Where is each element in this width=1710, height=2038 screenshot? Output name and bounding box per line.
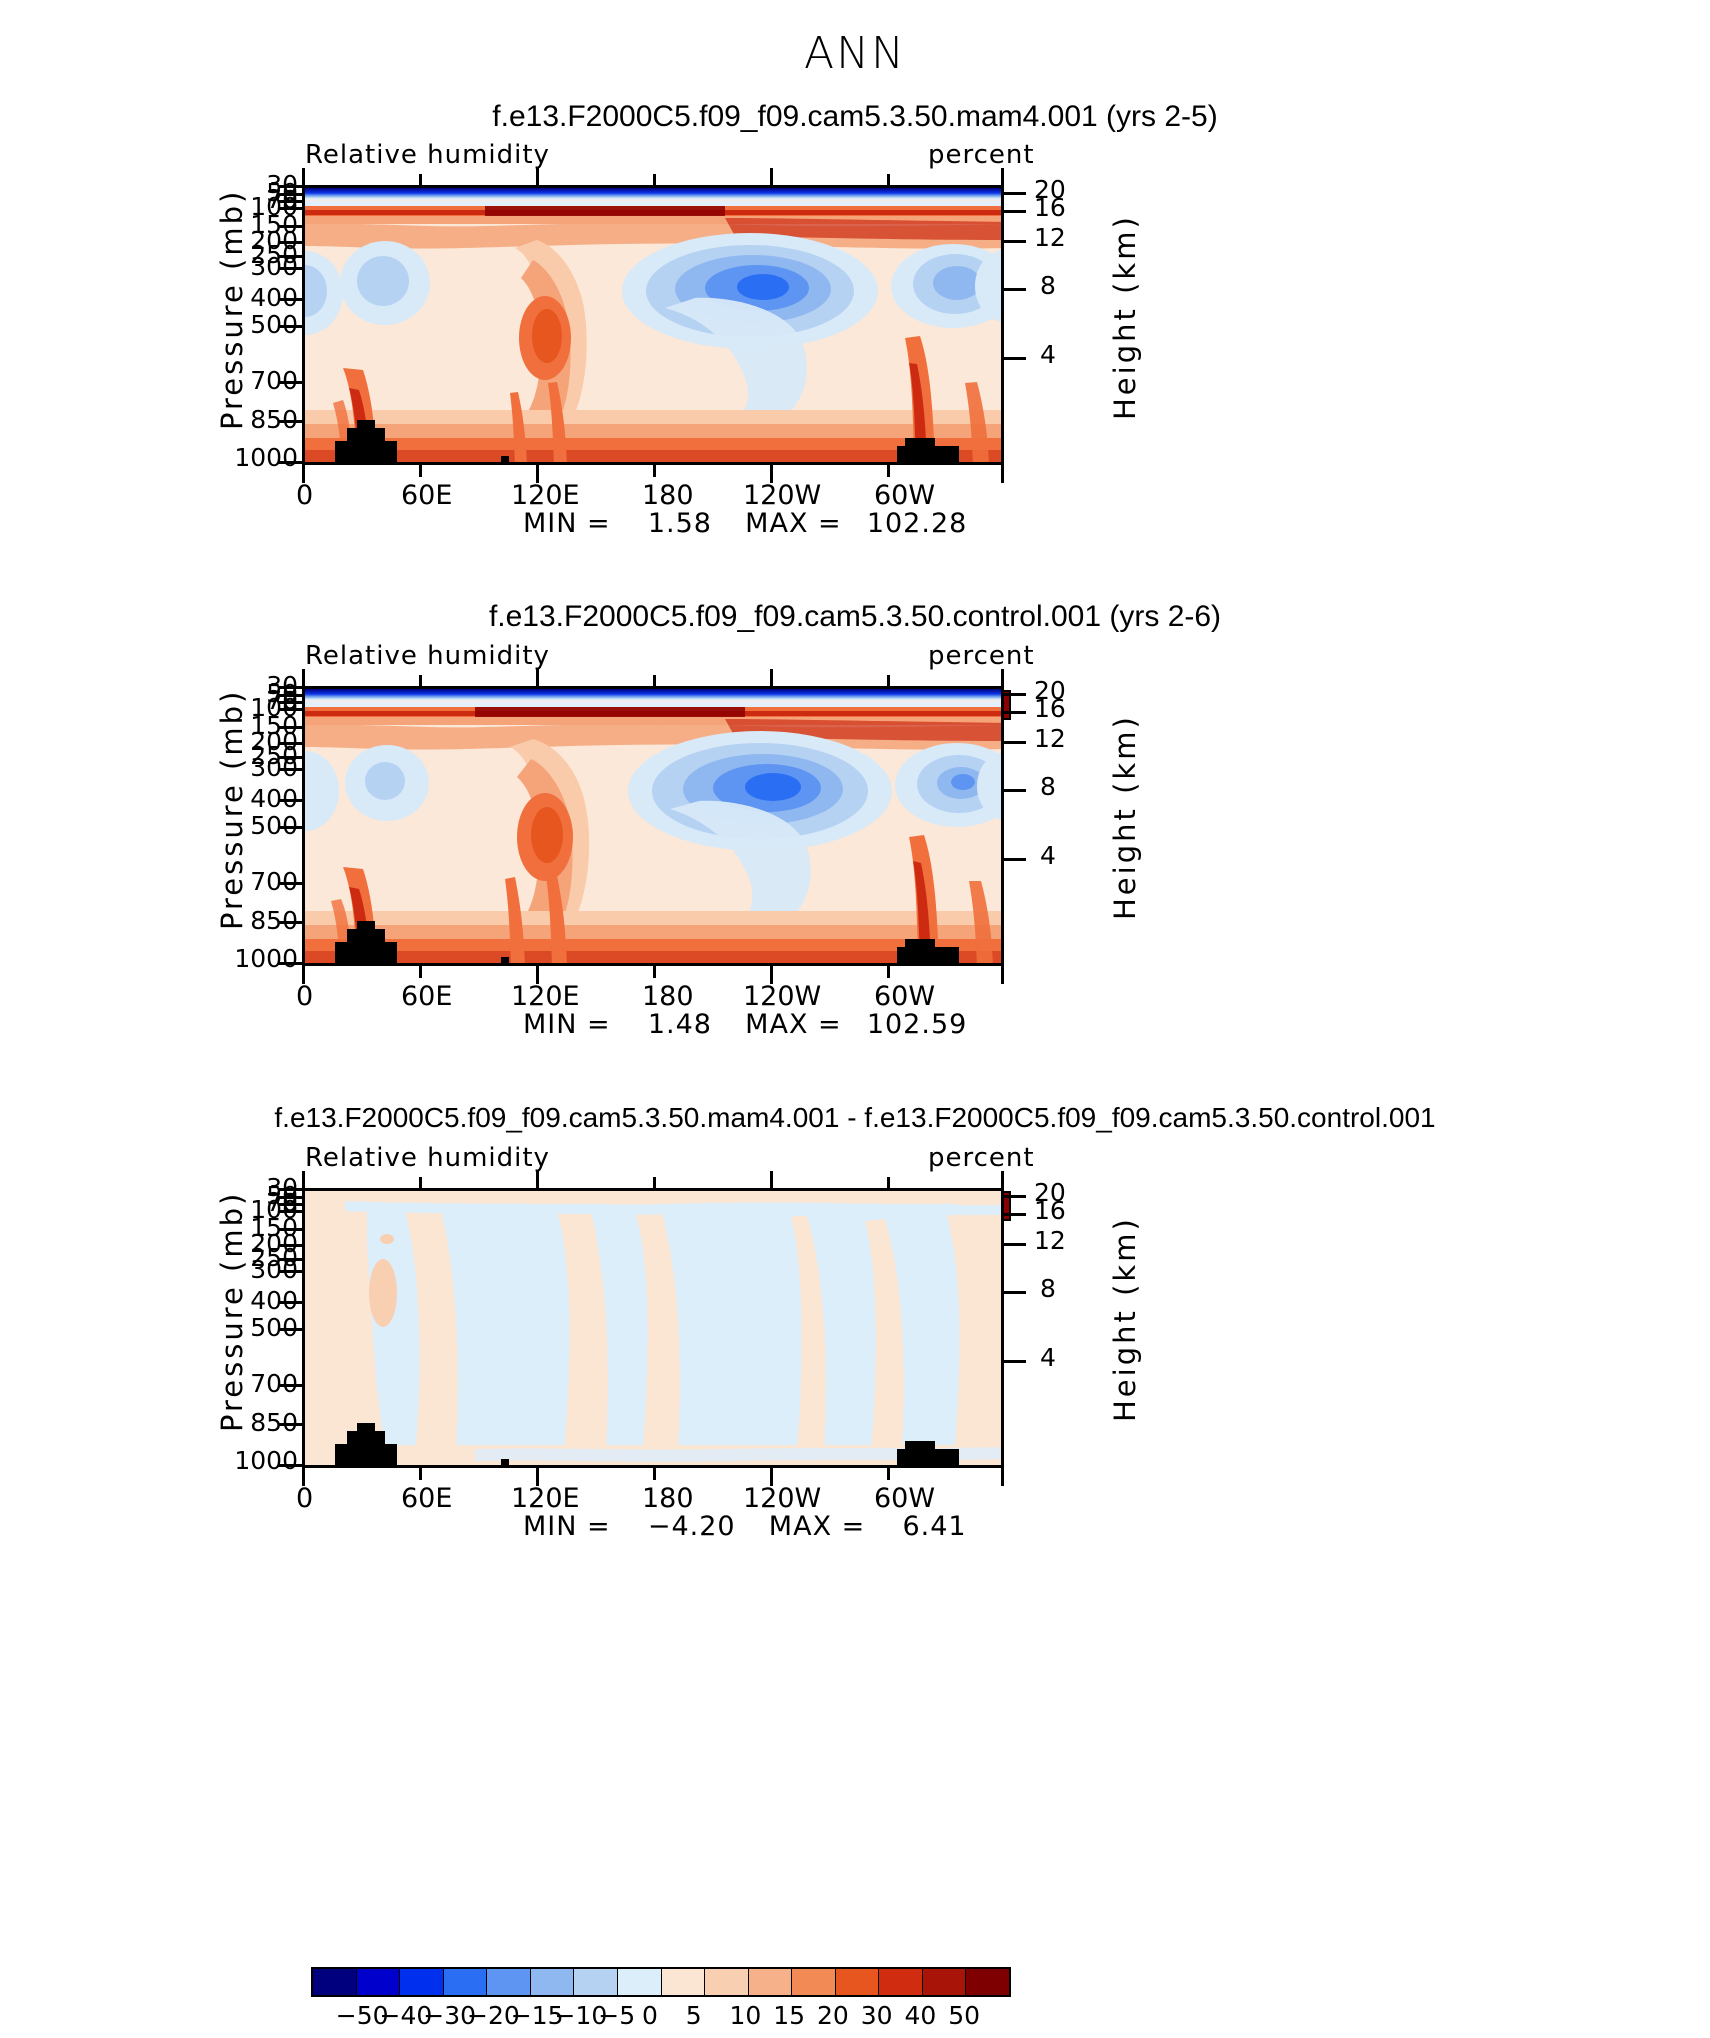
colorbar-swatch-12 [836,1969,880,1995]
panel-control-minmax: MIN = 1.48 MAX = 102.59 [523,1009,967,1040]
colorbar-label-12: 30 [861,2001,893,2030]
htick-16: 16 [1034,694,1066,723]
xtick-60W: 60W [874,480,935,511]
max-value: 102.28 [867,508,967,539]
htick-4: 4 [1040,841,1056,870]
max-prefix: MAX = [745,1009,841,1040]
panel-control-variable-label: Relative humidity [305,641,550,671]
panel-difference-units-label: percent [928,1143,1035,1173]
max-prefix: MAX = [745,508,841,539]
panel-control-plot-area [302,686,1004,966]
max-prefix: MAX = [769,1511,865,1542]
htick-8: 8 [1040,772,1056,801]
max-value: 102.59 [867,1009,967,1040]
min-value: −4.20 [648,1511,736,1542]
colorbar-swatch-15 [966,1969,1009,1995]
panel-difference-plot-area [302,1188,1004,1468]
colorbar-swatch-0 [313,1969,357,1995]
colorbar-swatch-9 [705,1969,749,1995]
colorbar-swatch-3 [444,1969,488,1995]
xtick-120E: 120E [511,480,580,511]
xtick-120W: 120W [743,1483,821,1514]
colorbar-swatch-5 [531,1969,575,1995]
htick-4: 4 [1040,1343,1056,1372]
min-prefix: MIN = [523,508,611,539]
panel-test-contour-field [305,188,1004,465]
panel-control-pressure-axis-title: Pressure (mb) [215,689,249,930]
colorbar-label-8: 5 [686,2001,702,2030]
colorbar-swatch-7 [618,1969,662,1995]
colorbar-label-10: 15 [773,2001,805,2030]
panel-test-title: f.e13.F2000C5.f09_f09.cam5.3.50.mam4.001… [0,100,1710,134]
panel-control-pressure-ticks: 30 50 70 100 150 200 250 300 400 500 700… [248,669,308,969]
htick-8: 8 [1040,271,1056,300]
xtick-60E: 60E [401,1483,452,1514]
panel-difference-title: f.e13.F2000C5.f09_f09.cam5.3.50.mam4.001… [0,1102,1710,1134]
htick-12: 12 [1034,1226,1066,1255]
min-value: 1.48 [648,1009,712,1040]
panel-difference-colorbar-labels: −50−40−30−20−15−10−505101520304050 [311,2001,1011,2035]
panel-difference-height-axis-title: Height (km) [1108,1216,1142,1422]
colorbar-label-14: 50 [948,2001,980,2030]
colorbar-swatch-4 [487,1969,531,1995]
xtick-120W: 120W [743,480,821,511]
panel-test-minmax: MIN = 1.58 MAX = 102.28 [523,508,967,539]
xtick-0: 0 [296,1483,313,1514]
min-prefix: MIN = [523,1511,611,1542]
xtick-60E: 60E [401,480,452,511]
htick-8: 8 [1040,1274,1056,1303]
panel-test-plot-area [302,185,1004,465]
panel-test-pressure-ticks: 30 50 70 100 150 200 250 300 400 500 700… [248,168,308,468]
max-value: 6.41 [902,1511,966,1542]
xtick-0: 0 [296,981,313,1012]
min-prefix: MIN = [523,1009,611,1040]
colorbar-label-6: −5 [598,2001,635,2030]
panel-control-units-label: percent [928,641,1035,671]
xtick-0: 0 [296,480,313,511]
colorbar-label-11: 20 [817,2001,849,2030]
xtick-180: 180 [642,981,694,1012]
panel-difference-pressure-axis-title: Pressure (mb) [215,1191,249,1432]
panel-difference-variable-label: Relative humidity [305,1143,550,1173]
htick-16: 16 [1034,193,1066,222]
ytick-1000: 1000 [234,1446,298,1475]
min-value: 1.58 [648,508,712,539]
ytick-1000: 1000 [234,443,298,472]
htick-16: 16 [1034,1196,1066,1225]
htick-4: 4 [1040,340,1056,369]
colorbar-label-13: 40 [905,2001,937,2030]
panel-difference-contour-field [305,1191,1004,1468]
xtick-120W: 120W [743,981,821,1012]
panel-control-height-axis-title: Height (km) [1108,714,1142,920]
colorbar-swatch-11 [792,1969,836,1995]
htick-12: 12 [1034,724,1066,753]
xtick-60W: 60W [874,981,935,1012]
panel-control-contour-field [305,689,1004,966]
htick-12: 12 [1034,223,1066,252]
panel-test-pressure-axis-title: Pressure (mb) [215,189,249,430]
panel-difference-colorbar[interactable] [311,1967,1011,1997]
panel-test-variable-label: Relative humidity [305,140,550,170]
xtick-60W: 60W [874,1483,935,1514]
colorbar-swatch-14 [923,1969,967,1995]
ytick-1000: 1000 [234,944,298,973]
colorbar-swatch-2 [400,1969,444,1995]
panel-test-units-label: percent [928,140,1035,170]
colorbar-label-9: 10 [730,2001,762,2030]
panel-test-height-axis-title: Height (km) [1108,214,1142,420]
xtick-180: 180 [642,480,694,511]
xtick-120E: 120E [511,981,580,1012]
xtick-60E: 60E [401,981,452,1012]
panel-difference-pressure-ticks: 30 50 70 100 150 200 250 300 400 500 700… [248,1171,308,1471]
colorbar-swatch-6 [574,1969,618,1995]
xtick-180: 180 [642,1483,694,1514]
colorbar-swatch-1 [357,1969,401,1995]
colorbar-swatch-10 [749,1969,793,1995]
panel-control-title: f.e13.F2000C5.f09_f09.cam5.3.50.control.… [0,600,1710,634]
season-title: ANN [0,28,1710,79]
colorbar-swatch-8 [662,1969,706,1995]
colorbar-swatch-13 [879,1969,923,1995]
panel-difference-minmax: MIN = −4.20 MAX = 6.41 [523,1511,967,1542]
xtick-120E: 120E [511,1483,580,1514]
colorbar-label-7: 0 [642,2001,658,2030]
